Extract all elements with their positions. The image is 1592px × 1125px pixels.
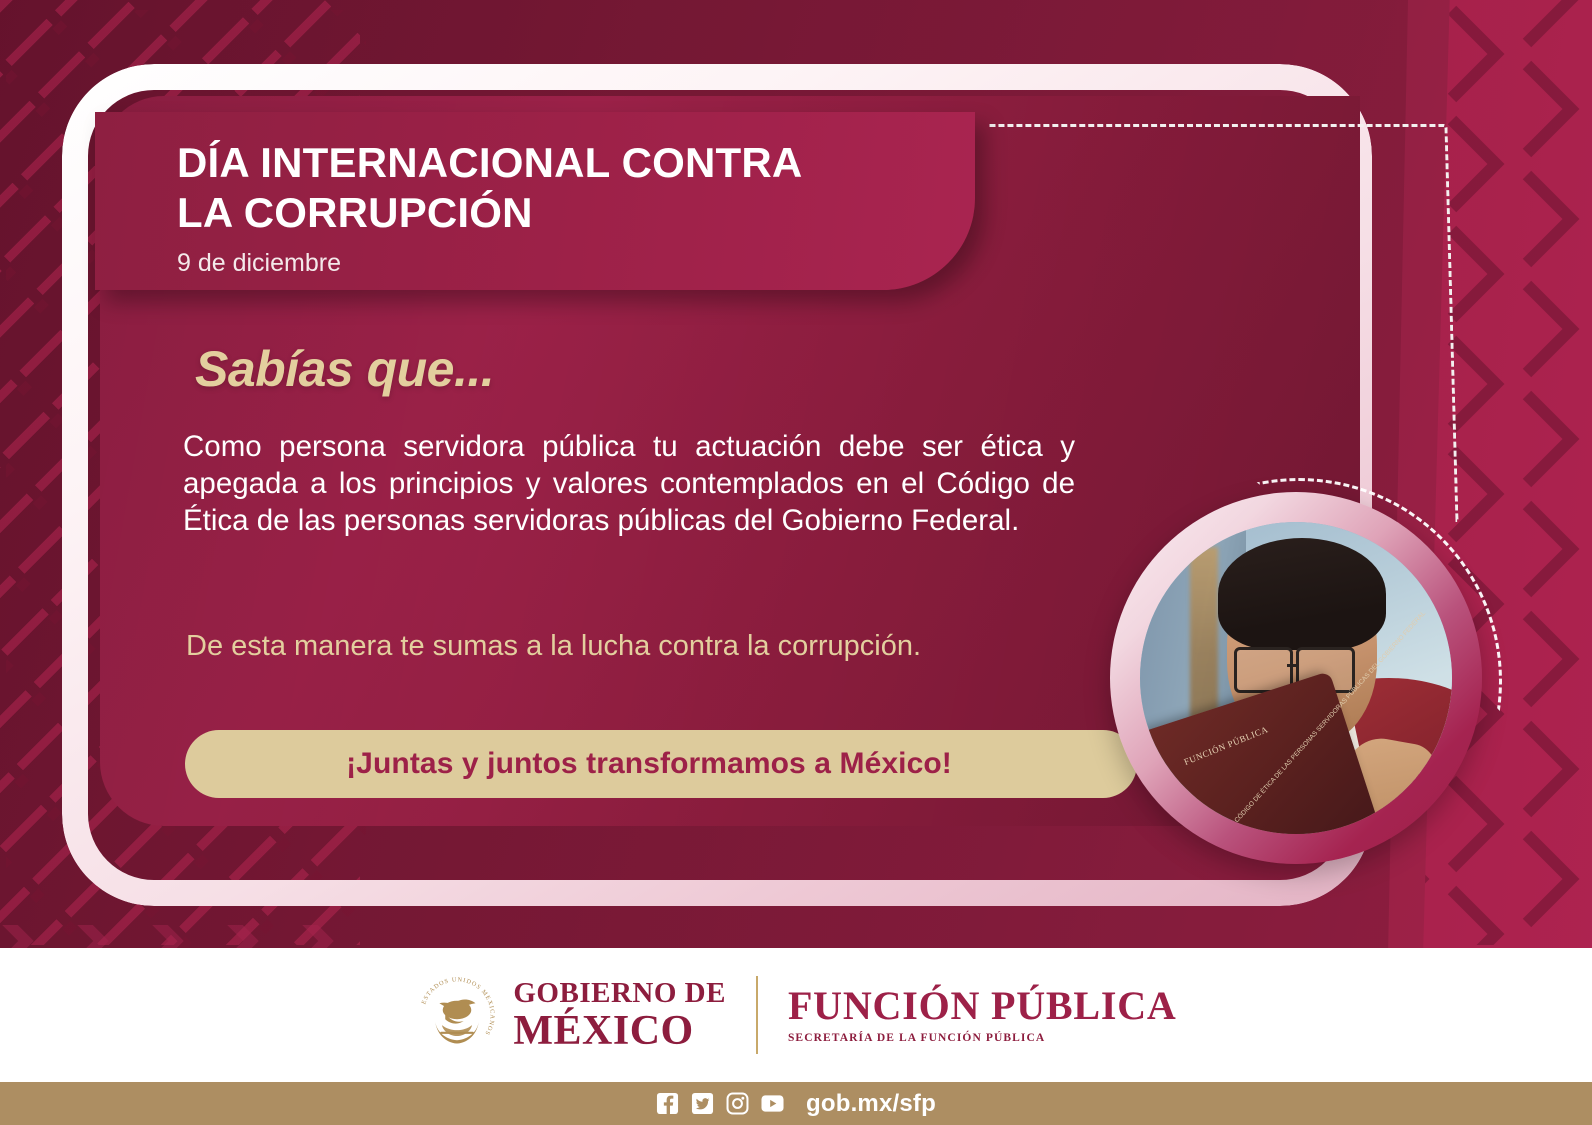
kicker-heading: Sabías que...: [195, 340, 494, 398]
agency-name: FUNCIÓN PÚBLICA: [788, 986, 1177, 1026]
agency-subtitle: SECRETARÍA DE LA FUNCIÓN PÚBLICA: [788, 1033, 1177, 1045]
youtube-icon[interactable]: [761, 1092, 784, 1115]
facebook-icon[interactable]: [656, 1092, 679, 1115]
social-url[interactable]: gob.mx/sfp: [806, 1090, 936, 1118]
page-title-line2: LA CORRUPCIÓN: [177, 188, 975, 238]
book-subtitle-text: CÓDIGO DE ÉTICA DE LAS PERSONAS SERVIDOR…: [1234, 730, 1320, 825]
photo-circle: FUNCIÓN PÚBLICA CÓDIGO DE ÉTICA DE LAS P…: [1110, 492, 1482, 864]
social-bar: gob.mx/sfp: [0, 1082, 1592, 1125]
closing-note: De esta manera te sumas a la lucha contr…: [186, 628, 1086, 664]
page-title-line1: DÍA INTERNACIONAL CONTRA: [177, 138, 975, 188]
mexican-eagle-emblem-icon: ESTADOS UNIDOS MEXICANOS: [415, 973, 499, 1057]
photo-image: FUNCIÓN PÚBLICA CÓDIGO DE ÉTICA DE LAS P…: [1140, 522, 1452, 834]
instagram-icon[interactable]: [726, 1092, 749, 1115]
book-title-text: FUNCIÓN PÚBLICA: [1183, 724, 1270, 767]
cta-label: ¡Juntas y juntos transformamos a México!: [346, 747, 952, 781]
gobierno-label-line1: GOBIERNO DE: [513, 979, 726, 1008]
poster-canvas: DÍA INTERNACIONAL CONTRA LA CORRUPCIÓN 9…: [0, 0, 1592, 1125]
footer-divider: [756, 976, 758, 1054]
event-date: 9 de diciembre: [177, 248, 975, 278]
title-banner: DÍA INTERNACIONAL CONTRA LA CORRUPCIÓN 9…: [95, 112, 975, 290]
twitter-icon[interactable]: [691, 1092, 714, 1115]
gobierno-label-line2: MÉXICO: [513, 1010, 726, 1052]
body-paragraph: Como persona servidora pública tu actuac…: [183, 428, 1075, 539]
footer-logos: ESTADOS UNIDOS MEXICANOS GOBIERNO DE MÉX…: [0, 948, 1592, 1082]
cta-banner: ¡Juntas y juntos transformamos a México!: [185, 730, 1137, 798]
